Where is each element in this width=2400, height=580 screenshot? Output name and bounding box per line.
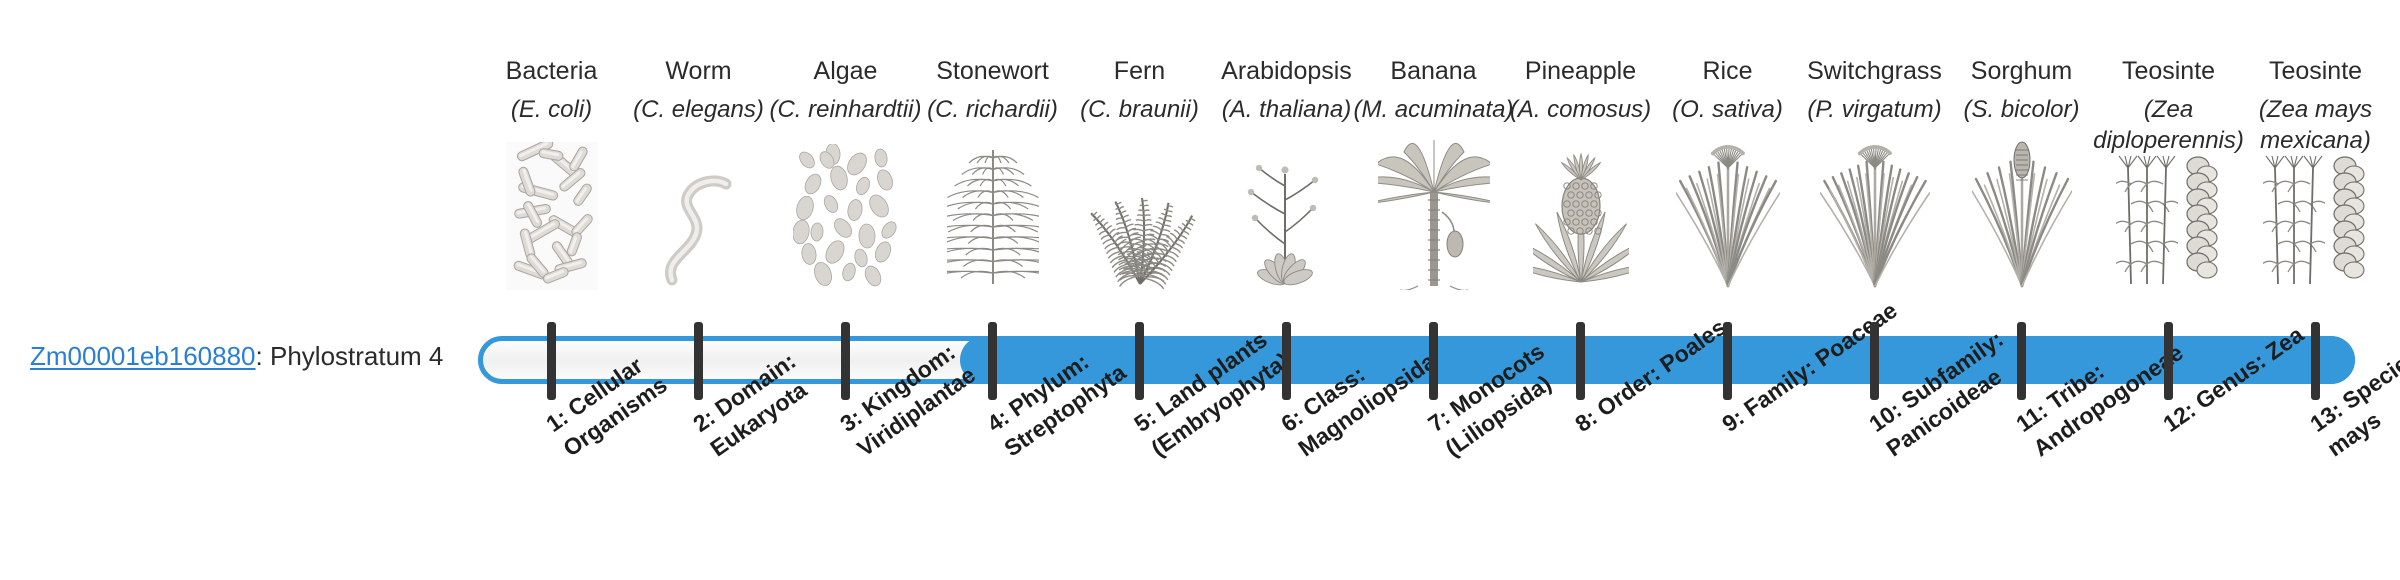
phylostratum-tick[interactable]: [1723, 322, 1732, 400]
phylostratum-tick[interactable]: [2164, 322, 2173, 400]
species-column: Teosinte(Zea mays mexicana): [2242, 0, 2389, 580]
phylostratum-tick[interactable]: [841, 322, 850, 400]
species-column: Pineapple(A. comosus): [1507, 0, 1654, 580]
pineapple-icon: [1507, 165, 1654, 290]
species-common-name: Maize: [2375, 55, 2400, 88]
phylostratum-tick[interactable]: [1429, 322, 1438, 400]
algae-cells-icon: [772, 165, 919, 290]
species-column: Arabidopsis(A. thaliana): [1213, 0, 1360, 580]
phylostratum-tick[interactable]: [1576, 322, 1585, 400]
phylostratum-tick[interactable]: [988, 322, 997, 400]
teosinte-mexicana-icon: [2242, 165, 2389, 290]
phylostratum-tick[interactable]: [1870, 322, 1879, 400]
phylostratum-value: Phylostratum 4: [270, 341, 443, 371]
gene-id-link[interactable]: Zm00001eb160880: [30, 341, 256, 371]
gene-phylostratum-label: Zm00001eb160880: Phylostratum 4: [30, 340, 443, 372]
stonewort-icon: [919, 165, 1066, 290]
bacteria-rods-icon: [478, 165, 625, 290]
species-column: Bacteria(E. coli): [478, 0, 625, 580]
nematode-worm-icon: [625, 165, 772, 290]
phylostratum-tick[interactable]: [547, 322, 556, 400]
species-column: Sorghum(S. bicolor): [1948, 0, 2095, 580]
fern-frond-icon: [1066, 165, 1213, 290]
teosinte-plant-and-ear-icon: [2095, 165, 2242, 290]
species-column: Rice(O. sativa): [1654, 0, 1801, 580]
maize-plant-and-cob-icon: [2389, 165, 2400, 290]
species-column: Worm(C. elegans): [625, 0, 772, 580]
phylostratum-tick[interactable]: [2017, 322, 2026, 400]
species-column: Fern(C. braunii): [1066, 0, 1213, 580]
switchgrass-icon: [1801, 165, 1948, 290]
species-scientific-name: (Zea mays mays): [2375, 94, 2400, 156]
species-column: Teosinte(Zea diploperennis): [2095, 0, 2242, 580]
rice-plant-icon: [1654, 165, 1801, 290]
species-column: Banana(M. acuminata): [1360, 0, 1507, 580]
phylostratum-tick[interactable]: [1282, 322, 1291, 400]
species-column: Algae(C. reinhardtii): [772, 0, 919, 580]
species-column: Switchgrass(P. virgatum): [1801, 0, 1948, 580]
phylostratum-figure: Zm00001eb160880: Phylostratum 4 Bacteria…: [0, 0, 2400, 580]
species-names: Maize(Zea mays mays): [2375, 55, 2400, 156]
phylostratum-tick[interactable]: [2311, 322, 2320, 400]
phylostratum-tick[interactable]: [1135, 322, 1144, 400]
arabidopsis-icon: [1213, 165, 1360, 290]
species-columns: Bacteria(E. coli)Worm(C. elegans)Algae(C…: [478, 0, 2355, 580]
species-column: Stonewort(C. richardii): [919, 0, 1066, 580]
phylostratum-tick[interactable]: [694, 322, 703, 400]
sorghum-icon: [1948, 165, 2095, 290]
gene-label-separator: :: [256, 341, 270, 371]
species-column: Maize(Zea mays mays): [2389, 0, 2400, 580]
banana-plant-icon: [1360, 165, 1507, 290]
